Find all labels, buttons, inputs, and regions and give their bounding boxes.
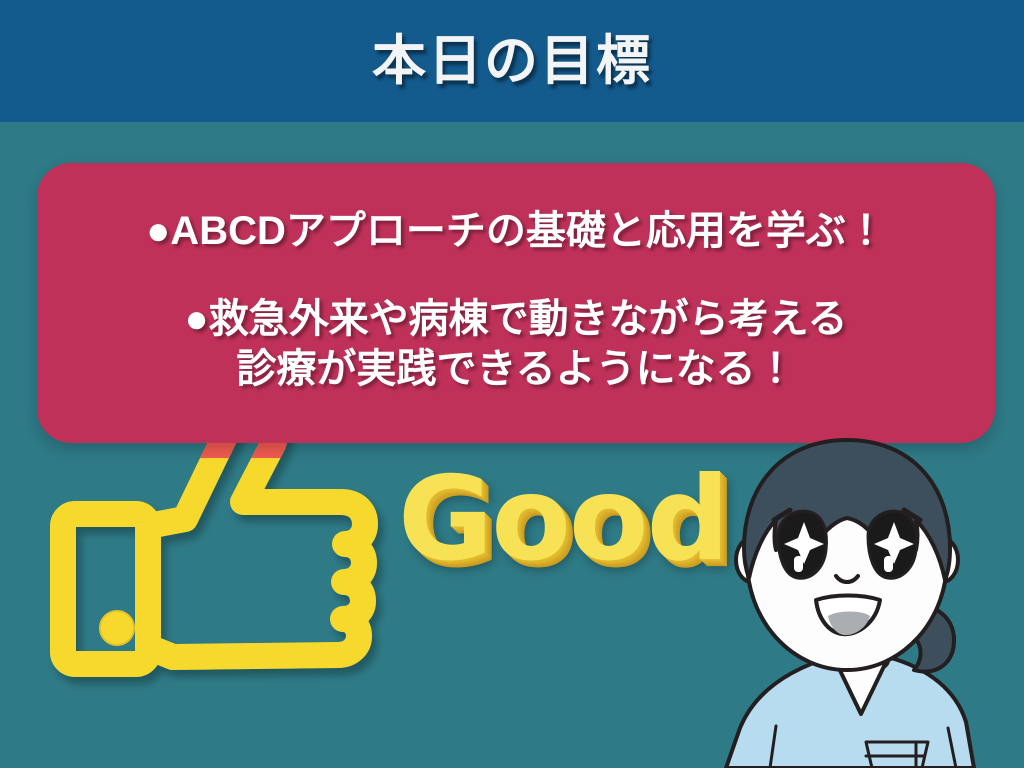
goal-item-2-line-2: 診療が実践できるようになる！ [37,347,995,393]
header-banner: 本日の目標 [0,0,1024,122]
good-wordart-label: Good [398,462,728,578]
nurse-illustration [716,408,1024,768]
goal-item-2-line-1: ●救急外来や病棟で動きながら考える [185,297,848,341]
goal-panel: ●ABCDアプローチの基礎と応用を学ぶ！ ●救急外来や病棟で動きながら考える 診… [37,163,995,443]
page-title: 本日の目標 [372,34,652,88]
goal-item-1: ●ABCDアプローチの基礎と応用を学ぶ！ [37,209,995,255]
slide-canvas: 本日の目標 [0,0,1024,768]
goal-item-2: ●救急外来や病棟で動きながら考える 診療が実践できるようになる！ [37,297,995,392]
